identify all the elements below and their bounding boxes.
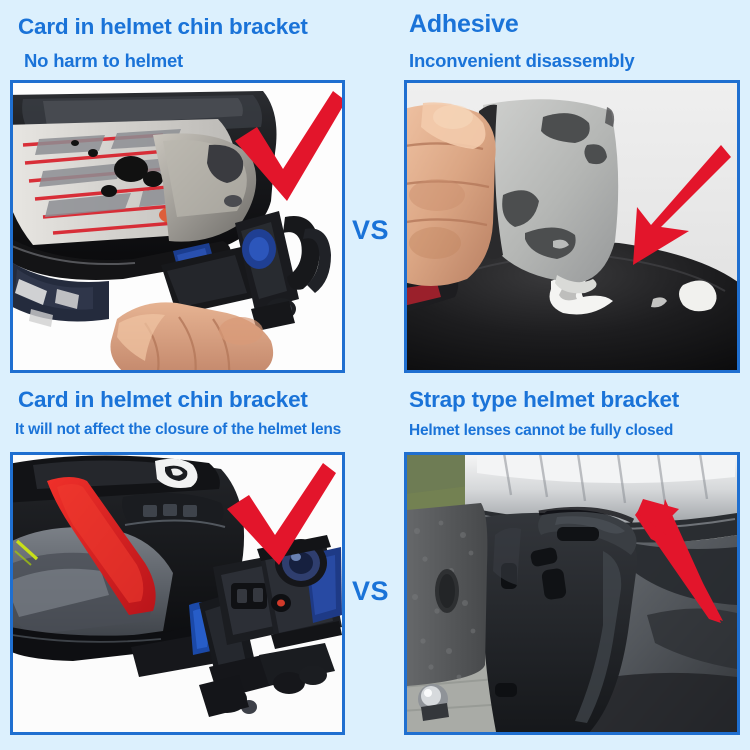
- row2-good-title: Card in helmet chin bracket: [18, 387, 308, 413]
- row1-bad-subtitle: Inconvenient disassembly: [409, 50, 635, 72]
- photo-panel-row1-good: [10, 80, 345, 373]
- versus-label-row2: VS: [352, 576, 389, 607]
- versus-label-row1: VS: [352, 215, 389, 246]
- photo-panel-row2-bad: [404, 452, 740, 735]
- helmet-chin-bracket-photo: [13, 83, 342, 370]
- helmet-camera-chinmount-photo: [13, 455, 342, 732]
- row1-good-title: Card in helmet chin bracket: [18, 14, 308, 40]
- photo-panel-row2-good: [10, 452, 345, 735]
- row2-bad-title: Strap type helmet bracket: [409, 387, 679, 413]
- photo-panel-row1-bad: [404, 80, 740, 373]
- row1-good-subtitle: No harm to helmet: [24, 50, 183, 72]
- row2-bad-subtitle: Helmet lenses cannot be fully closed: [409, 422, 673, 440]
- adhesive-residue-photo: [407, 83, 737, 370]
- row2-good-subtitle: It will not affect the closure of the he…: [15, 421, 341, 439]
- strap-bracket-gap-photo: [407, 455, 737, 732]
- infographic-root: Card in helmet chin bracket No harm to h…: [0, 0, 750, 750]
- row1-bad-title: Adhesive: [409, 10, 519, 39]
